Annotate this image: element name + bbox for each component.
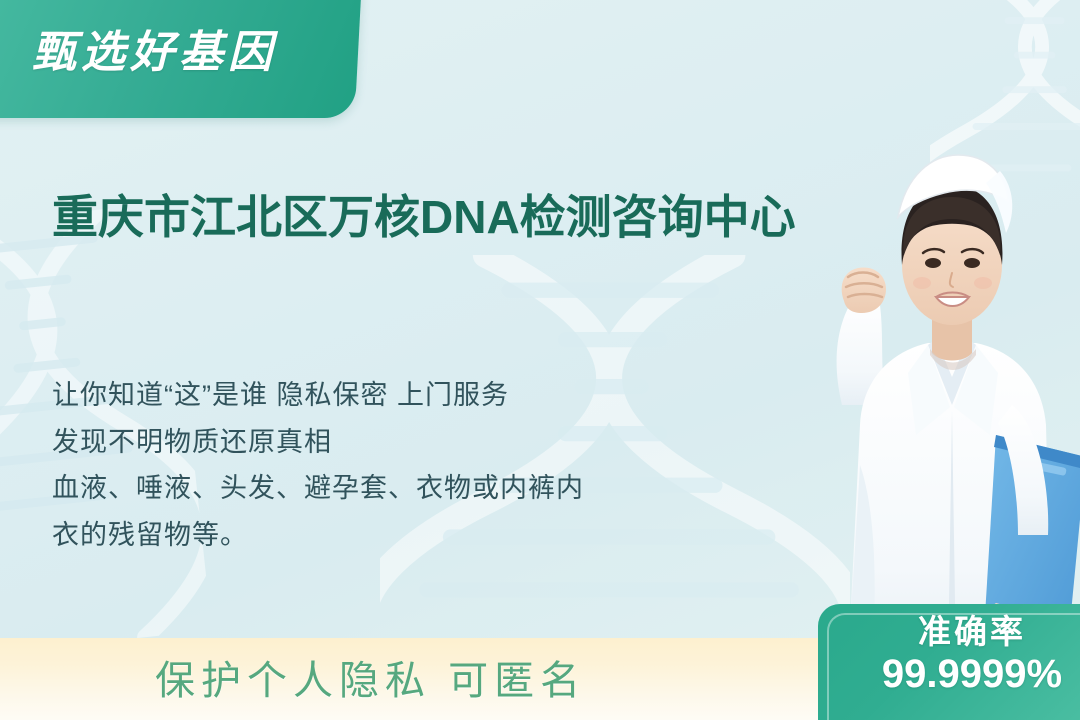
body-line-3: 血液、唾液、头发、避孕套、衣物或内裤内 [52,465,792,512]
body-line-2: 发现不明物质还原真相 [52,419,792,466]
body-line-4: 衣的残留物等。 [52,512,792,559]
accuracy-badge-label: 准确率 [818,613,1080,651]
accuracy-badge-value: 99.9999% [818,651,1080,697]
brand-ribbon-text: 甄选好基因 [32,16,358,80]
body-line-1: 让你知道“这”是谁 隐私保密 上门服务 [52,372,792,419]
promo-poster: 甄选好基因 重庆市江北区万核DNA检测咨询中心 让你知道“这”是谁 隐私保密 上… [0,0,1080,720]
bottom-tagline-text: 保护个人隐私 可匿名 [155,648,586,706]
body-copy: 让你知道“这”是谁 隐私保密 上门服务 发现不明物质还原真相 血液、唾液、头发、… [52,372,792,559]
dna-helix-top-right-icon [930,0,1080,265]
brand-ribbon-banner: 甄选好基因 [0,0,361,118]
page-title: 重庆市江北区万核DNA检测咨询中心 [52,187,842,248]
accuracy-badge: 准确率 99.9999% [818,604,1080,720]
nurse-photo [800,105,1080,665]
